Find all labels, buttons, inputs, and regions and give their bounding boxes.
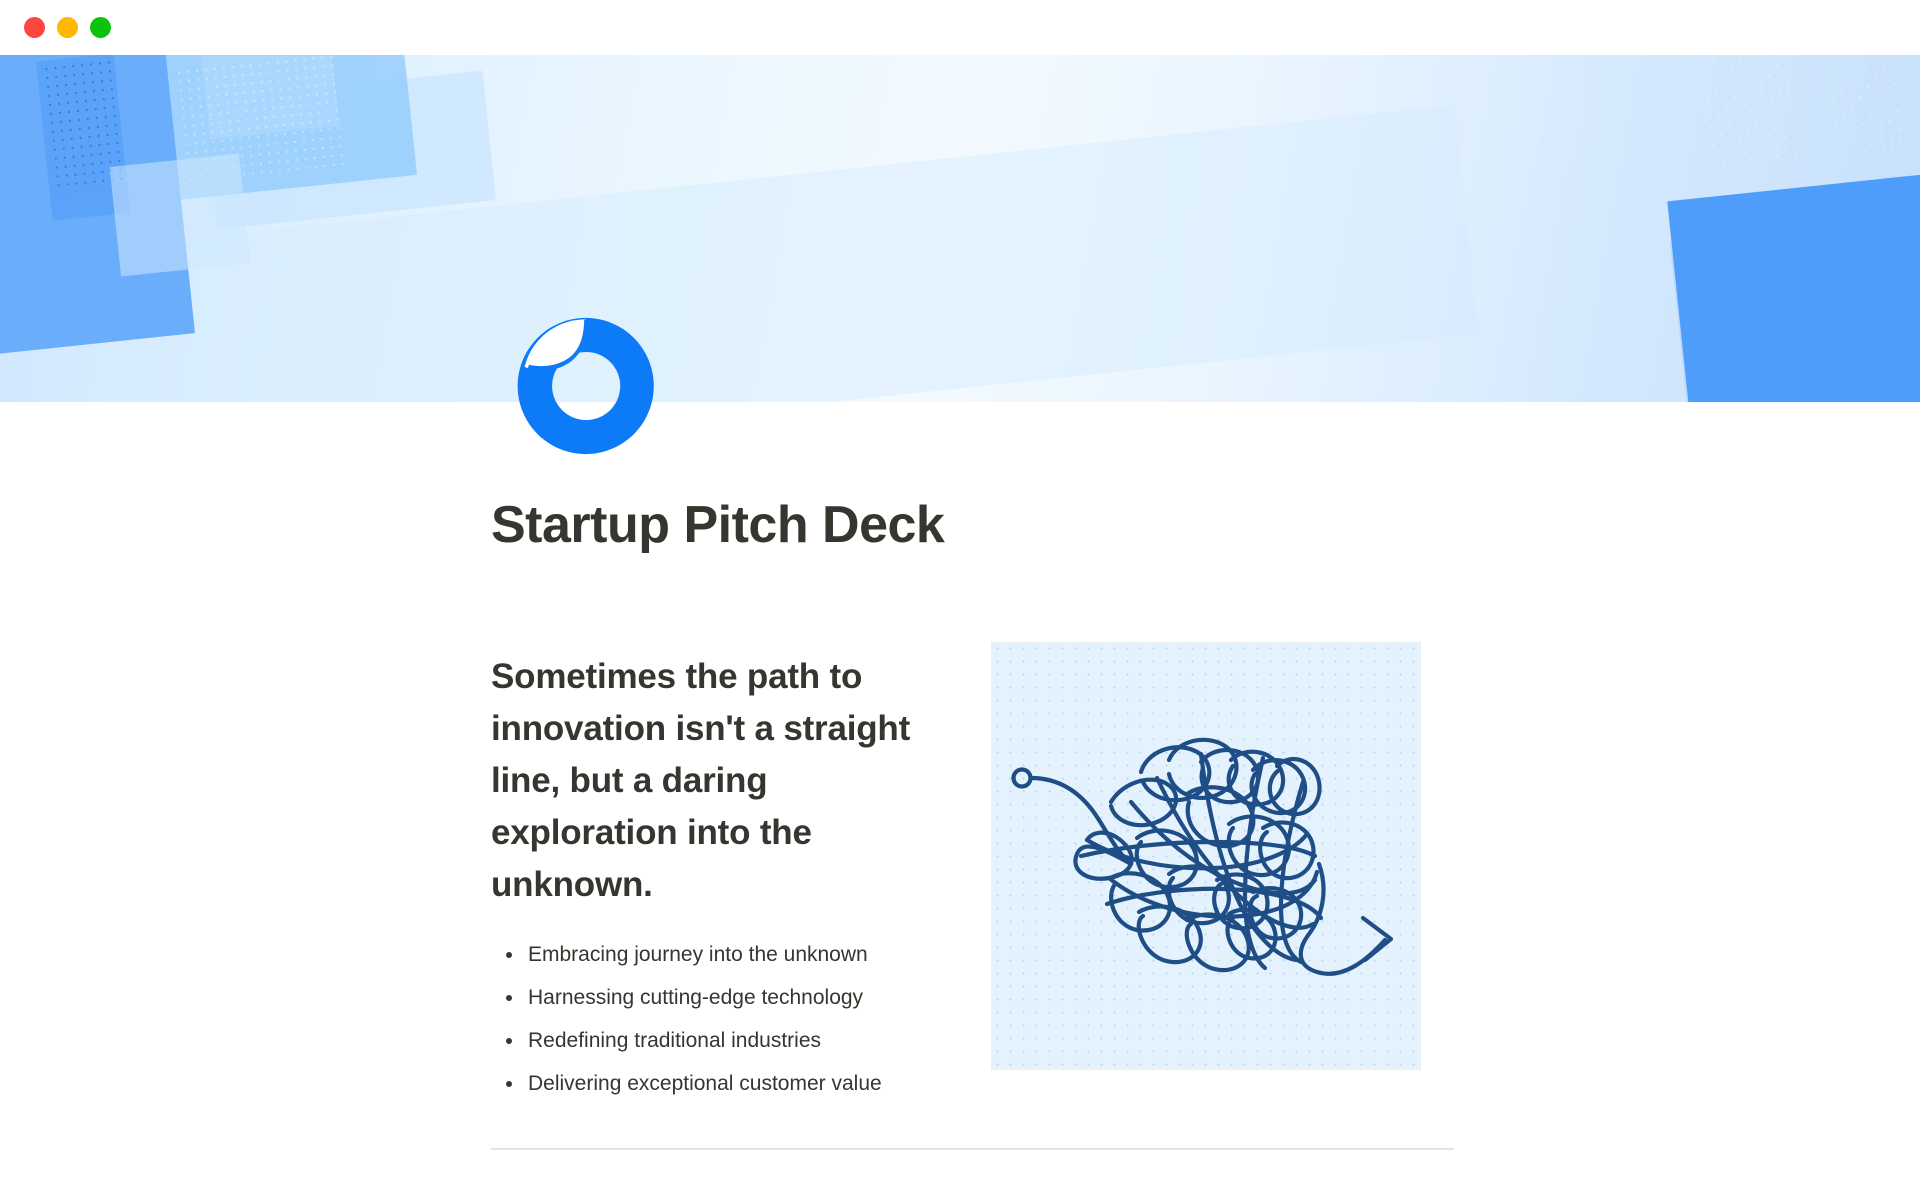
illustration-panel — [991, 642, 1421, 1070]
list-item: Harnessing cutting-edge technology — [491, 976, 911, 1019]
minimize-window-button[interactable] — [57, 17, 78, 38]
lead-statement: Sometimes the path to innovation isn't a… — [491, 651, 911, 911]
banner-shape-right-main — [1667, 170, 1920, 402]
traffic-lights — [24, 17, 111, 38]
highlights-list: Embracing journey into the unknown Harne… — [491, 933, 911, 1105]
circular-swoosh-icon — [512, 312, 660, 460]
page-title: Startup Pitch Deck — [491, 495, 944, 555]
section-divider — [491, 1148, 1454, 1150]
cover-banner — [0, 55, 1920, 402]
list-item: Embracing journey into the unknown — [491, 933, 911, 976]
title-bar — [0, 0, 1920, 55]
illustration-column — [991, 642, 1421, 1070]
text-column: Sometimes the path to innovation isn't a… — [491, 642, 911, 1105]
zoom-window-button[interactable] — [90, 17, 111, 38]
app-window: Startup Pitch Deck Sometimes the path to… — [0, 0, 1920, 1200]
close-window-button[interactable] — [24, 17, 45, 38]
content-area: Sometimes the path to innovation isn't a… — [491, 642, 1421, 1105]
banner-dots-right-b — [1825, 62, 1905, 164]
banner-dots-right-c — [1525, 58, 1595, 164]
tangled-path-icon — [991, 642, 1421, 1070]
banner-shape-left-lower — [110, 154, 251, 277]
banner-dots-right-a — [1700, 55, 1806, 170]
document-icon[interactable] — [512, 312, 660, 460]
list-item: Redefining traditional industries — [491, 1019, 911, 1062]
list-item: Delivering exceptional customer value — [491, 1062, 911, 1105]
